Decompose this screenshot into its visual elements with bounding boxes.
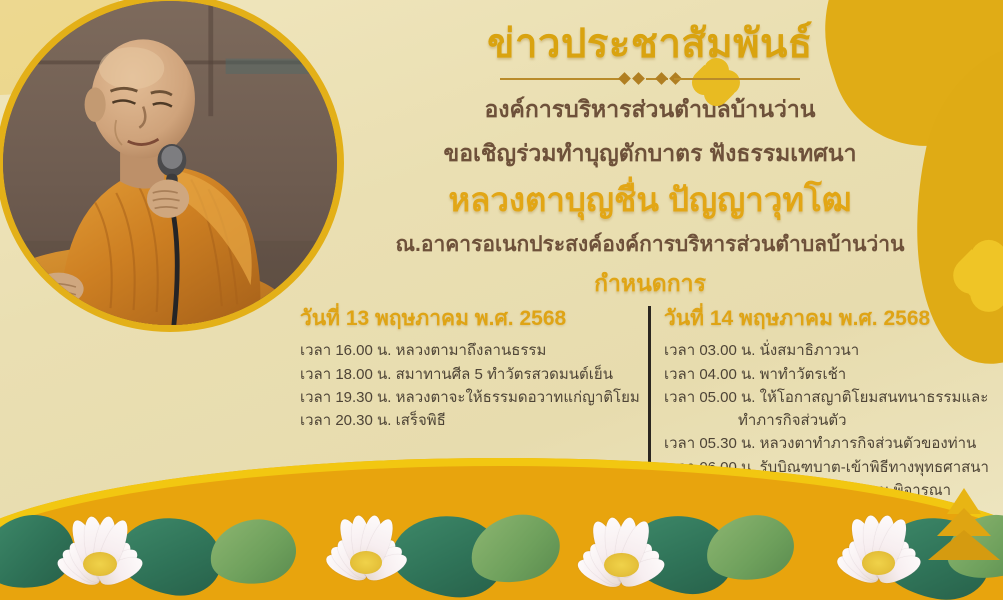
lotus-flower-icon: [20, 486, 180, 600]
day2-heading: วันที่ 14 พฤษภาคม พ.ศ. 2568: [664, 306, 1003, 332]
list-item: เวลา 18.00 น. สมาทานศีล 5 ทำวัตรสวดมนต์เ…: [300, 363, 634, 386]
lotus-seed-pod: [83, 552, 117, 576]
list-item-continuation: ทำภารกิจส่วนตัว: [664, 409, 1003, 432]
lotus-flower-icon: [290, 488, 442, 600]
monk-name: หลวงตาบุญชื่น ปัญญาวุทโฒ: [300, 179, 1000, 222]
list-item: เวลา 16.00 น. หลวงตามาถึงลานธรรม: [300, 339, 634, 362]
thai-pagoda-icon: [929, 486, 999, 560]
list-item: เวลา 05.30 น. หลวงตาทำภารกิจส่วนตัวของท่…: [664, 432, 1003, 455]
list-item: เวลา 03.00 น. นั่งสมาธิภาวนา: [664, 339, 1003, 362]
schedule-heading: กำหนดการ: [300, 266, 1000, 302]
day1-heading: วันที่ 13 พฤษภาคม พ.ศ. 2568: [300, 306, 634, 332]
monk-photo-frame: [0, 0, 344, 332]
list-item: เวลา 05.00 น. ให้โอกาสญาติโยมสนทนาธรรมแล…: [664, 386, 1003, 409]
lotus-seed-pod: [350, 551, 382, 574]
monk-photo: [3, 1, 337, 325]
lotus-flower-icon: [540, 486, 703, 600]
page-title: ข่าวประชาสัมพันธ์: [300, 22, 1000, 67]
list-item: เวลา 19.30 น. หลวงตาจะให้ธรรมดอวาทแก่ญาต…: [300, 386, 634, 409]
venue-line: ณ.อาคารอเนกประสงค์องค์การบริหารส่วนตำบลบ…: [300, 230, 1000, 260]
header-block: ข่าวประชาสัมพันธ์ องค์การบริหารส่วนตำบลบ…: [300, 22, 1000, 302]
title-divider-ornament: [500, 72, 800, 86]
list-item: เวลา 20.30 น. เสร็จพิธี: [300, 409, 634, 432]
invitation-line: ขอเชิญร่วมทำบุญตักบาตร ฟังธรรมเทศนา: [300, 136, 1000, 171]
lotus-seed-pod: [862, 551, 895, 575]
list-item: เวลา 04.00 น. พาทำวัตรเช้า: [664, 363, 1003, 386]
day1-list: เวลา 16.00 น. หลวงตามาถึงลานธรรม เวลา 18…: [300, 339, 634, 432]
organization-name: องค์การบริหารส่วนตำบลบ้านว่าน: [300, 92, 1000, 127]
poster-canvas: ข่าวประชาสัมพันธ์ องค์การบริหารส่วนตำบลบ…: [0, 0, 1003, 600]
